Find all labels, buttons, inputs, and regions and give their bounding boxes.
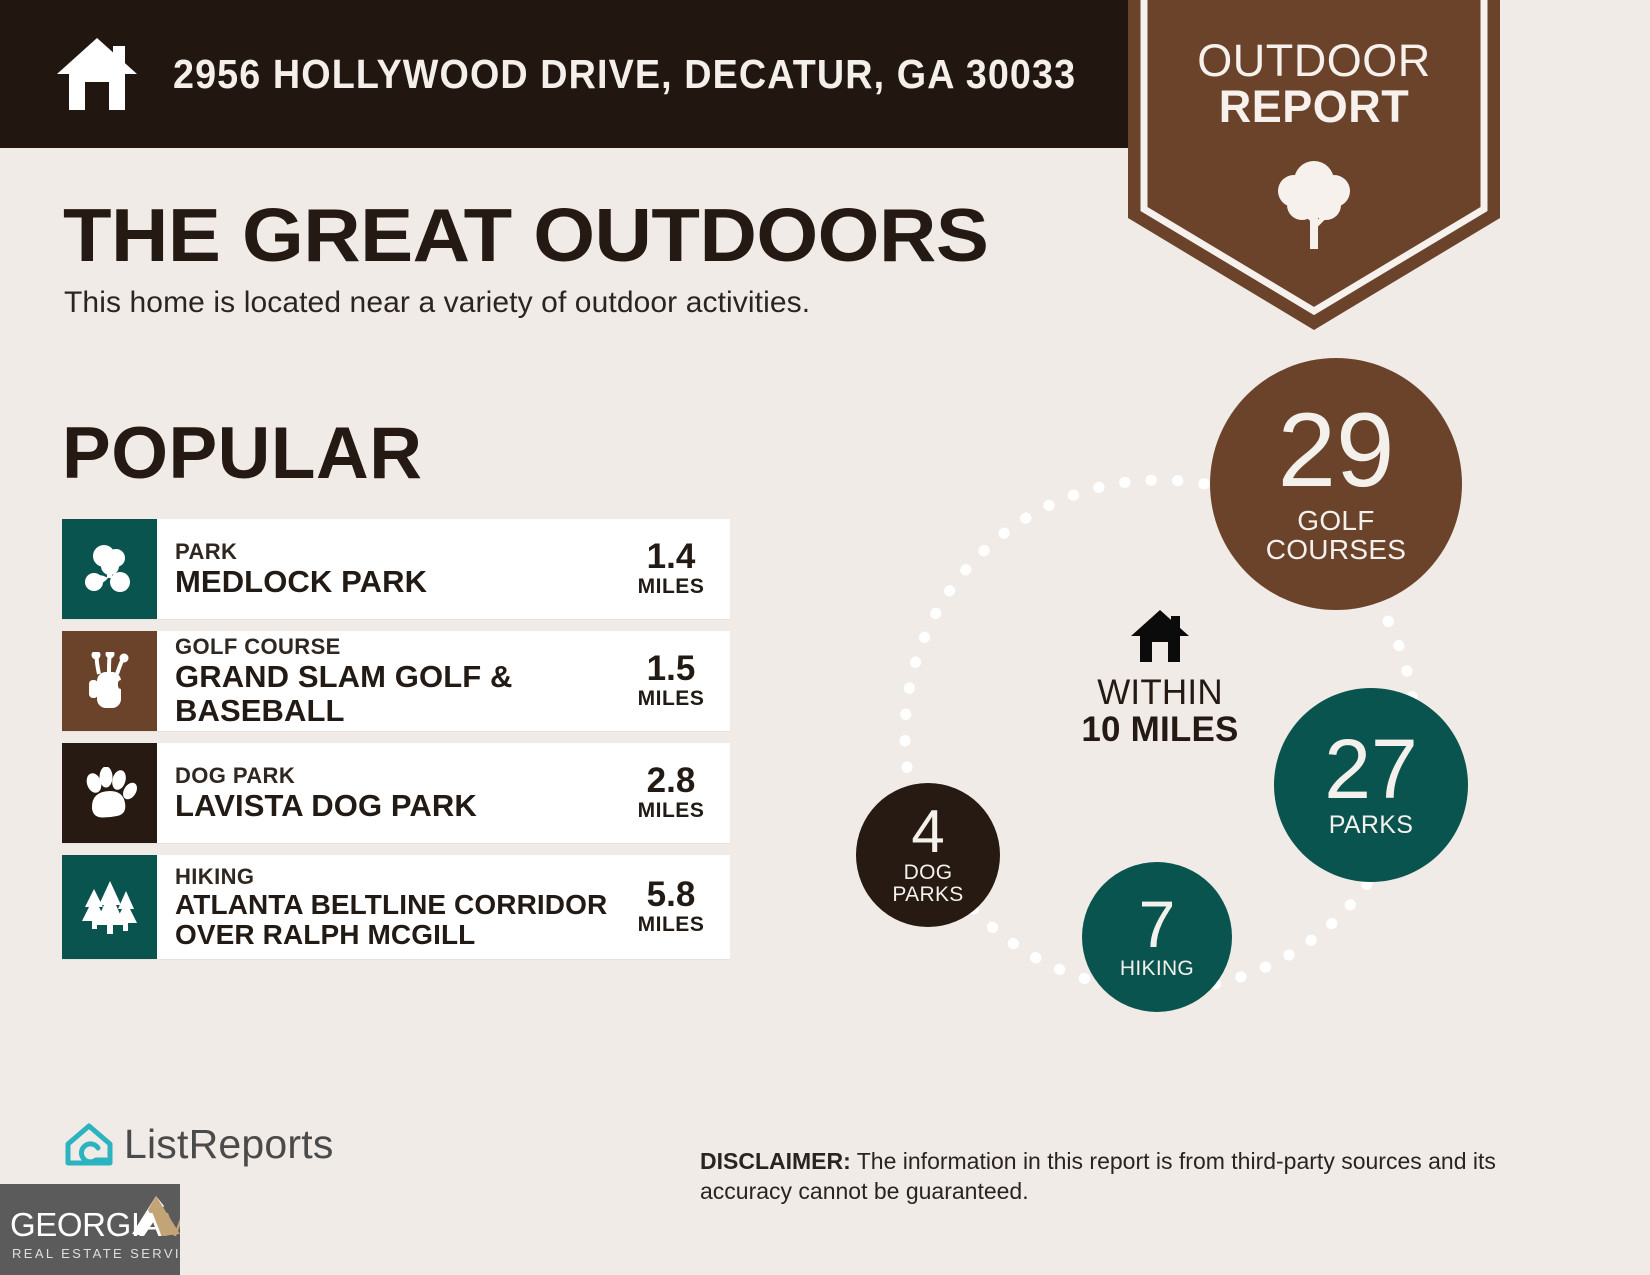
bubble-label-line2: COURSES: [1266, 535, 1407, 565]
list-item-category: PARK: [175, 539, 620, 565]
list-item-category: HIKING: [175, 864, 620, 890]
listreports-wordmark: ListReports: [124, 1121, 334, 1168]
list-item-name-line2: OVER RALPH MCGILL: [175, 920, 620, 950]
bubble-label-line1: GOLF: [1266, 506, 1407, 536]
house-outline-icon: [60, 1118, 118, 1170]
list-item[interactable]: GOLF COURSE GRAND SLAM GOLF & BASEBALL 1…: [62, 631, 730, 731]
listreports-logo[interactable]: ListReports: [60, 1118, 334, 1170]
page-subtitle: This home is located near a variety of o…: [64, 286, 810, 320]
mls-wordmark: GEORGIAMLS: [10, 1206, 180, 1244]
list-item[interactable]: HIKING ATLANTA BELTLINE CORRIDOR OVER RA…: [62, 855, 730, 959]
page-title: THE GREAT OUTDOORS: [63, 192, 988, 278]
outdoor-report-badge: OUTDOOR REPORT: [1128, 0, 1500, 330]
disclaimer-label: DISCLAIMER:: [700, 1148, 851, 1174]
golf-bag-icon: [62, 631, 157, 731]
distance-value: 2.8: [620, 763, 722, 800]
distance-unit: MILES: [620, 575, 722, 599]
list-item-name: MEDLOCK PARK: [175, 565, 620, 599]
bubble-label: HIKING: [1120, 958, 1194, 980]
home-icon: [55, 36, 139, 112]
list-item-name-line1: ATLANTA BELTLINE CORRIDOR: [175, 890, 620, 920]
bubble-value: 4: [911, 804, 944, 859]
park-trees-icon: [62, 519, 157, 619]
distance-value: 5.8: [620, 877, 722, 914]
list-item[interactable]: DOG PARK LAVISTA DOG PARK 2.8 MILES: [62, 743, 730, 843]
bubble-label-line1: DOG: [892, 862, 963, 884]
list-item-distance: 1.4 MILES: [620, 539, 730, 600]
chart-center-node: WITHIN 10 MILES: [1020, 608, 1300, 750]
popular-places-list: PARK MEDLOCK PARK 1.4 MILES: [62, 519, 730, 971]
bubble-value: 7: [1139, 894, 1176, 955]
bubble-value: 29: [1278, 403, 1395, 500]
home-icon: [1129, 608, 1191, 664]
list-item[interactable]: PARK MEDLOCK PARK 1.4 MILES: [62, 519, 730, 619]
list-item-name: LAVISTA DOG PARK: [175, 789, 620, 823]
distance-unit: MILES: [620, 913, 722, 937]
distance-unit: MILES: [620, 687, 722, 711]
mls-word-1: GEORGIA: [10, 1206, 161, 1243]
paw-print-icon: [62, 743, 157, 843]
center-label-line2: 10 MILES: [1020, 711, 1300, 750]
distance-value: 1.5: [620, 651, 722, 688]
pine-trees-icon: [62, 855, 157, 959]
list-item-distance: 5.8 MILES: [620, 877, 730, 938]
bubble-golf-courses[interactable]: 29 GOLF COURSES: [1210, 358, 1462, 610]
list-item-category: DOG PARK: [175, 763, 620, 789]
list-item-distance: 1.5 MILES: [620, 651, 730, 712]
bubble-label: PARKS: [1329, 812, 1413, 839]
property-address: 2956 HOLLYWOOD DRIVE, DECATUR, GA 30033: [173, 51, 1076, 98]
bubble-value: 27: [1324, 731, 1417, 808]
list-item-distance: 2.8 MILES: [620, 763, 730, 824]
distance-unit: MILES: [620, 799, 722, 823]
bubble-hiking[interactable]: 7 HIKING: [1082, 862, 1232, 1012]
bubble-parks[interactable]: 27 PARKS: [1274, 688, 1468, 882]
mls-tagline: REAL ESTATE SERVICES: [12, 1246, 180, 1261]
center-label-line1: WITHIN: [1020, 674, 1300, 711]
section-heading-popular: POPULAR: [62, 412, 422, 495]
list-item-category: GOLF COURSE: [175, 634, 620, 660]
mls-word-2: MLS: [161, 1206, 180, 1243]
within-10-miles-chart: 29 GOLF COURSES 27 PARKS 7 HIKING 4 DOG …: [820, 340, 1580, 1060]
disclaimer: DISCLAIMER: The information in this repo…: [700, 1146, 1512, 1207]
bubble-label-line2: PARKS: [892, 884, 963, 906]
distance-value: 1.4: [620, 539, 722, 576]
list-item-name: GRAND SLAM GOLF & BASEBALL: [175, 660, 620, 728]
bubble-dog-parks[interactable]: 4 DOG PARKS: [856, 783, 1000, 927]
georgia-mls-logo: GEORGIAMLS REAL ESTATE SERVICES: [0, 1184, 180, 1275]
